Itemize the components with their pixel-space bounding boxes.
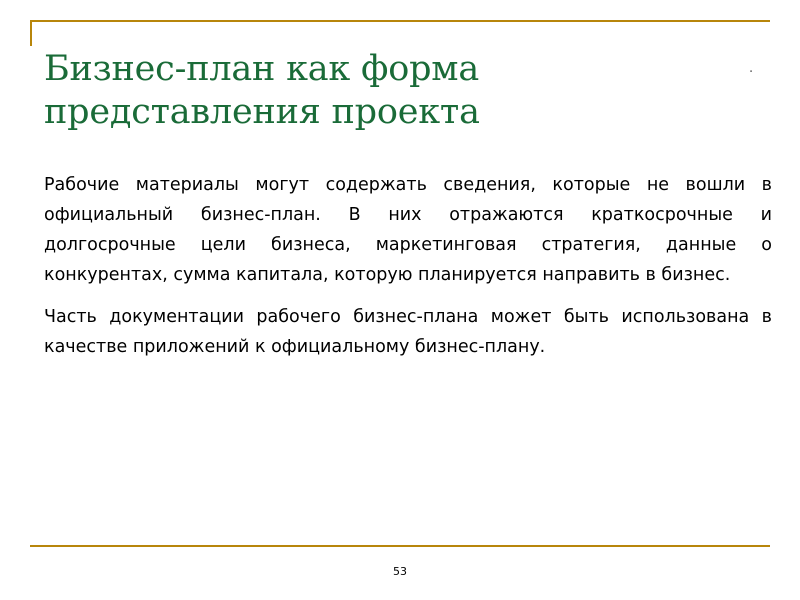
body-paragraph: Часть документации рабочего бизнес-плана… — [44, 302, 772, 362]
slide: Бизнес-план как форма представления прое… — [0, 0, 800, 600]
page-title: Бизнес-план как форма представления прое… — [44, 48, 664, 133]
bottom-divider — [30, 545, 770, 547]
top-divider — [30, 20, 770, 22]
slide-body: Рабочие материалы могут содержать сведен… — [44, 170, 772, 363]
page-number: 53 — [0, 565, 800, 578]
top-left-accent-divider — [30, 20, 32, 46]
corner-dot-mark: . — [749, 62, 753, 75]
body-paragraph: Рабочие материалы могут содержать сведен… — [44, 170, 772, 290]
